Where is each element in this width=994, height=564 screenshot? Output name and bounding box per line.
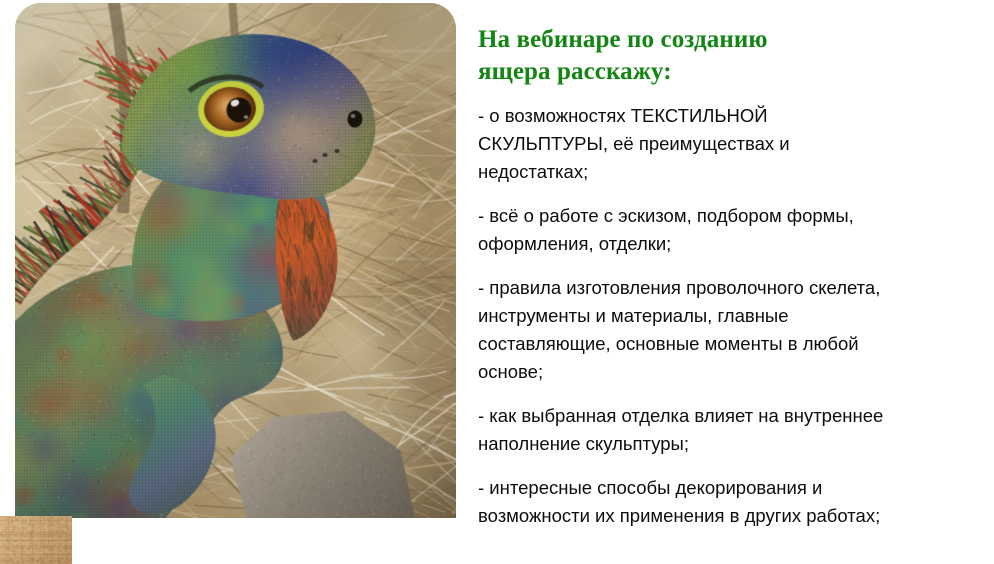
text-column: На вебинаре по созданию ящера расскажу: … <box>478 24 978 530</box>
lizard-photo-canvas <box>15 3 456 518</box>
lizard-photo <box>15 3 456 518</box>
list-item: - правила изготовления проволочного скел… <box>478 274 978 386</box>
list-item: - интересные способы декорирования и воз… <box>478 474 978 530</box>
burlap-texture-canvas <box>0 516 72 564</box>
burlap-texture-swatch <box>0 516 72 564</box>
page-title: На вебинаре по созданию ящера расскажу: <box>478 24 978 88</box>
list-item: - всё о работе с эскизом, подбором формы… <box>478 202 978 258</box>
list-item: - как выбранная отделка влияет на внутре… <box>478 402 978 458</box>
slide-root: На вебинаре по созданию ящера расскажу: … <box>0 0 994 564</box>
list-item: - о возможностях ТЕКСТИЛЬНОЙ СКУЛЬПТУРЫ,… <box>478 102 978 186</box>
